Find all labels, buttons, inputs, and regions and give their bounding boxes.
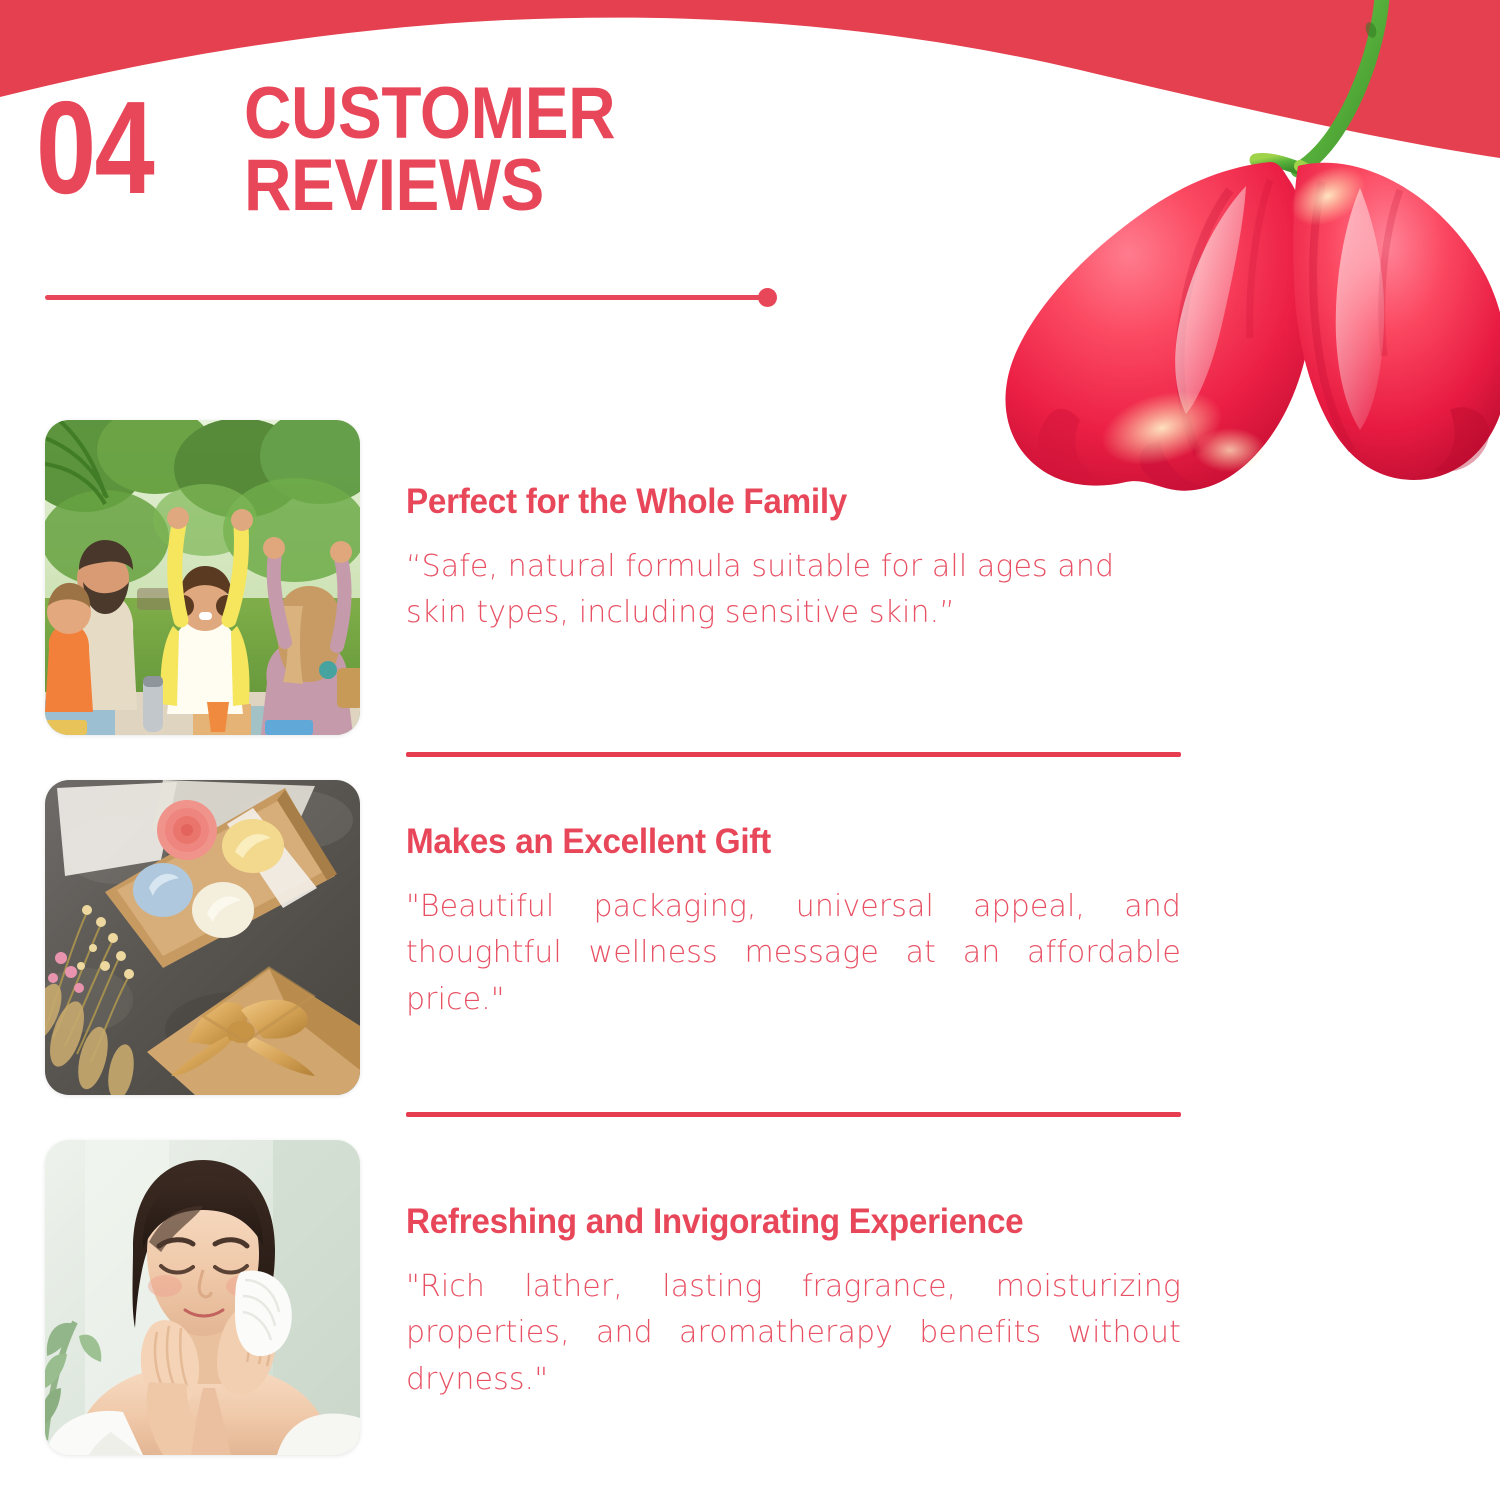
review-divider-2 [406,1112,1181,1117]
review-quote: "Rich lather, lasting fragrance, moistur… [406,1264,1181,1403]
review-divider-1 [406,752,1181,757]
review-image-skincare [45,1140,360,1455]
review-quote: "Beautiful packaging, universal appeal, … [406,884,1181,1023]
review-image-family [45,420,360,735]
review-image-gift [45,780,360,1095]
review-quote: “Safe, natural formula suitable for all … [406,544,1181,636]
review-text-block: Makes an Excellent Gift "Beautiful packa… [406,822,1366,1023]
review-text-block: Refreshing and Invigorating Experience "… [406,1202,1366,1403]
family-picnic-photo [45,420,360,735]
gift-box-soaps-photo [45,780,360,1095]
review-text-block: Perfect for the Whole Family “Safe, natu… [406,482,1366,637]
reviews-list: Perfect for the Whole Family “Safe, natu… [0,0,1500,1500]
woman-skincare-photo [45,1140,360,1455]
review-heading: Refreshing and Invigorating Experience [406,1202,1318,1242]
review-heading: Makes an Excellent Gift [406,822,1318,862]
review-heading: Perfect for the Whole Family [406,482,1318,522]
